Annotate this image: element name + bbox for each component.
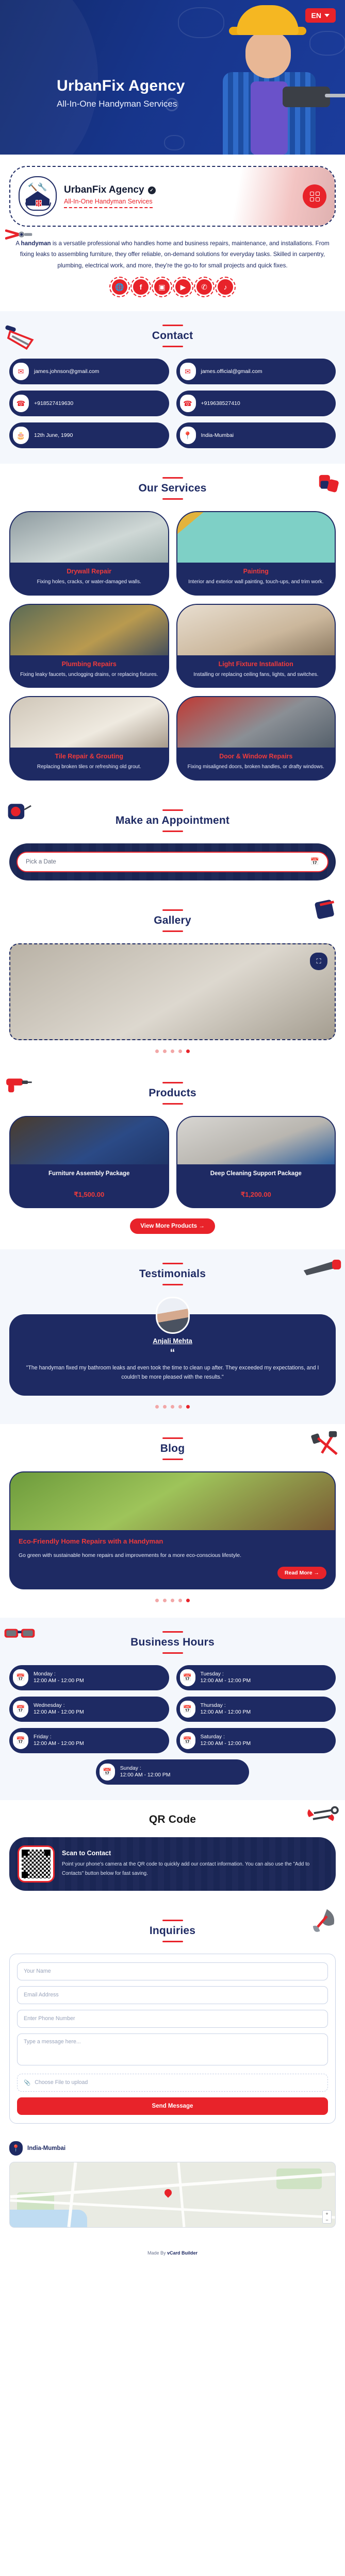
blog-dot[interactable] — [163, 1599, 167, 1602]
website-icon[interactable]: 🌐 — [112, 279, 127, 295]
service-title: Light Fixture Installation — [184, 660, 329, 668]
contact-section: Contact ✉ james.johnson@gmail.com ✉ jame… — [0, 311, 345, 464]
date-placeholder: Pick a Date — [26, 859, 56, 865]
hours-row: 📅 Wednesday : 12:00 AM - 12:00 PM — [9, 1697, 169, 1722]
service-image — [10, 512, 168, 563]
qr-title: Scan to Contact — [62, 1850, 327, 1857]
testimonial-card-wrap: Anjali Mehta “ "The handyman fixed my ba… — [9, 1297, 336, 1396]
phone-icon: ☎ — [13, 395, 29, 412]
map-location-label: India-Mumbai — [27, 2145, 65, 2151]
testimonials-section: Testimonials Anjali Mehta “ "The handyma… — [0, 1249, 345, 1424]
service-desc: Fixing holes, cracks, or water-damaged w… — [17, 578, 162, 586]
service-desc: Interior and exterior wall painting, tou… — [184, 578, 329, 586]
map-header: 📍 India-Mumbai — [9, 2141, 336, 2156]
business-hours-section: Business Hours 📅 Monday : 12:00 AM - 12:… — [0, 1618, 345, 1800]
service-title: Painting — [184, 568, 329, 575]
chevron-down-icon — [324, 14, 330, 17]
send-message-button[interactable]: Send Message — [17, 2097, 328, 2115]
product-card[interactable]: Deep Cleaning Support Package ₹1,200.00 — [176, 1116, 336, 1208]
hammer-wrench-icon: 🔨🔧 — [28, 182, 47, 192]
youtube-icon[interactable]: ▶ — [175, 279, 191, 295]
hours-row-sunday: 📅 Sunday : 12:00 AM - 12:00 PM — [96, 1759, 250, 1785]
calendar-clock-icon: 📅 — [180, 1669, 195, 1686]
footer-brand: vCard Builder — [167, 2250, 198, 2256]
service-card[interactable]: Drywall Repair Fixing holes, cracks, or … — [9, 511, 169, 596]
service-desc: Installing or replacing ceiling fans, li… — [184, 671, 329, 679]
product-image — [177, 1117, 335, 1164]
section-title: Blog — [9, 1443, 336, 1455]
service-card[interactable]: Plumbing Repairs Fixing leaky faucets, u… — [9, 604, 169, 688]
products-grid: Furniture Assembly Package ₹1,500.00 Dee… — [9, 1116, 336, 1208]
contact-value: India-Mumbai — [201, 432, 234, 439]
testimonial-dot[interactable] — [163, 1405, 167, 1409]
calendar-clock-icon: 📅 — [100, 1764, 115, 1781]
gallery-heading: Gallery — [9, 909, 336, 932]
map-section: 📍 India-Mumbai + − — [0, 2139, 345, 2243]
service-desc: Fixing misaligned doors, broken handles,… — [184, 763, 329, 771]
services-section: Our Services Drywall Repair Fixing holes… — [0, 464, 345, 796]
qr-description: Point your phone's camera at the QR code… — [62, 1860, 327, 1878]
blog-dot[interactable] — [171, 1599, 174, 1602]
intro-rest: is a versatile professional who handles … — [20, 240, 330, 269]
date-picker-input[interactable]: Pick a Date 📅 — [17, 852, 328, 872]
service-image — [177, 697, 335, 748]
testimonial-author: Anjali Mehta — [21, 1337, 324, 1345]
contact-value: 12th June, 1990 — [34, 432, 73, 439]
contact-grid: ✉ james.johnson@gmail.com ✉ james.offici… — [9, 359, 336, 448]
map-water — [10, 2210, 87, 2227]
service-card[interactable]: Door & Window Repairs Fixing misaligned … — [176, 696, 336, 781]
calendar-clock-icon: 📅 — [13, 1701, 28, 1718]
product-image — [10, 1117, 168, 1164]
hours-time: 12:00 AM - 12:00 PM — [201, 1709, 251, 1715]
section-title: QR Code — [9, 1814, 336, 1826]
contact-birthday[interactable]: 🎂 12th June, 1990 — [9, 422, 169, 448]
read-more-button[interactable]: Read More → — [277, 1567, 326, 1579]
view-more-products-button[interactable]: View More Products → — [130, 1218, 215, 1234]
blog-heading: Blog — [9, 1437, 336, 1460]
gallery-dot[interactable] — [171, 1049, 174, 1053]
hero-subtitle: All-In-One Handyman Services — [57, 99, 185, 109]
decorative-blob — [164, 135, 185, 150]
contact-value: +918527419630 — [34, 400, 73, 407]
email-field[interactable] — [17, 1986, 328, 2004]
section-title: Business Hours — [9, 1636, 336, 1649]
email-icon: ✉ — [180, 363, 196, 380]
blog-description: Go green with sustainable home repairs a… — [19, 1551, 326, 1561]
appointment-section: Make an Appointment Pick a Date 📅 — [0, 796, 345, 896]
qr-card: Scan to Contact Point your phone's camer… — [9, 1837, 336, 1891]
hours-time: 12:00 AM - 12:00 PM — [34, 1741, 84, 1747]
gallery-dot[interactable] — [155, 1049, 159, 1053]
hero-banner: EN UrbanFix Agency All-In-One Handyman S… — [0, 0, 345, 155]
business-hours-heading: Business Hours — [9, 1631, 336, 1654]
hours-row: 📅 Tuesday : 12:00 AM - 12:00 PM — [176, 1665, 336, 1690]
testimonials-heading: Testimonials — [9, 1263, 336, 1285]
blog-pagination — [9, 1599, 336, 1602]
contact-email-2[interactable]: ✉ james.official@gmail.com — [176, 359, 336, 384]
paperclip-icon: 📎 — [24, 2079, 30, 2086]
product-price: ₹1,200.00 — [183, 1191, 330, 1199]
profile-meta: UrbanFix Agency ✓ All-In-One Handyman Se… — [64, 184, 156, 208]
testimonial-dot[interactable] — [178, 1405, 182, 1409]
profile-section: 🔨🔧 UrbanFix Agency ✓ All-In-One Handyman… — [0, 155, 345, 230]
appointment-card: Pick a Date 📅 — [9, 843, 336, 880]
inquiries-section: Inquiries 📎 Choose File to upload Send M… — [0, 1906, 345, 2139]
calendar-clock-icon: 📅 — [180, 1701, 195, 1718]
product-card[interactable]: Furniture Assembly Package ₹1,500.00 — [9, 1116, 169, 1208]
blog-card[interactable]: Eco-Friendly Home Repairs with a Handyma… — [9, 1471, 336, 1589]
profile-tagline: All-In-One Handyman Services — [64, 198, 153, 208]
blog-section: Blog Eco-Friendly Home Repairs with a Ha… — [0, 1424, 345, 1618]
service-desc: Replacing broken tiles or refreshing old… — [17, 763, 162, 771]
service-title: Tile Repair & Grouting — [17, 753, 162, 760]
hero-text-block: UrbanFix Agency All-In-One Handyman Serv… — [57, 77, 185, 109]
service-card[interactable]: Painting Interior and exterior wall pain… — [176, 511, 336, 596]
section-title: Gallery — [9, 914, 336, 927]
products-heading: Products — [9, 1082, 336, 1105]
phone-field[interactable] — [17, 2010, 328, 2028]
company-logo: 🔨🔧 — [19, 176, 57, 216]
hours-row: 📅 Friday : 12:00 AM - 12:00 PM — [9, 1728, 169, 1753]
birthday-cake-icon: 🎂 — [13, 427, 29, 444]
hours-time: 12:00 AM - 12:00 PM — [34, 1709, 84, 1715]
hours-row: 📅 Thursday : 12:00 AM - 12:00 PM — [176, 1697, 336, 1722]
quote-icon: “ — [21, 1348, 324, 1358]
calendar-clock-icon: 📅 — [13, 1669, 28, 1686]
grid-menu-icon[interactable] — [303, 184, 326, 208]
calendar-icon[interactable]: 📅 — [310, 857, 319, 866]
service-image — [177, 512, 335, 563]
inquiry-form: 📎 Choose File to upload Send Message — [9, 1954, 336, 2124]
hours-row: 📅 Monday : 12:00 AM - 12:00 PM — [9, 1665, 169, 1690]
hours-day: Monday : — [34, 1671, 84, 1677]
map-embed[interactable]: + − — [9, 2162, 336, 2228]
logo-arc — [25, 202, 51, 211]
testimonial-pagination — [9, 1405, 336, 1409]
services-heading: Our Services — [9, 477, 336, 500]
email-icon: ✉ — [13, 363, 29, 380]
hours-time: 12:00 AM - 12:00 PM — [34, 1678, 84, 1684]
testimonial-dot-active[interactable] — [186, 1405, 190, 1409]
business-hours-grid: 📅 Monday : 12:00 AM - 12:00 PM 📅 Tuesday… — [9, 1665, 336, 1753]
hours-day: Tuesday : — [201, 1671, 251, 1677]
calendar-clock-icon: 📅 — [180, 1732, 195, 1749]
qr-heading: QR Code — [9, 1814, 336, 1826]
service-image — [10, 697, 168, 748]
blog-image — [10, 1472, 335, 1530]
testimonial-dot[interactable] — [155, 1405, 159, 1409]
appointment-heading: Make an Appointment — [9, 809, 336, 832]
section-title: Make an Appointment — [9, 815, 336, 827]
intro-section: A handyman is a versatile professional w… — [0, 230, 345, 311]
section-title: Our Services — [9, 482, 336, 495]
gallery-dot[interactable] — [178, 1049, 182, 1053]
language-label: EN — [311, 11, 321, 20]
hours-day: Thursday : — [201, 1703, 251, 1708]
service-title: Door & Window Repairs — [184, 753, 329, 760]
map-zoom-out[interactable]: − — [323, 2217, 331, 2223]
blog-dot[interactable] — [155, 1599, 159, 1602]
testimonial-dot[interactable] — [171, 1405, 174, 1409]
testimonial-text: "The handyman fixed my bathroom leaks an… — [21, 1363, 324, 1382]
whatsapp-icon[interactable]: ✆ — [196, 279, 212, 295]
hours-day: Sunday : — [120, 1766, 171, 1771]
language-selector[interactable]: EN — [305, 8, 336, 23]
map-zoom-controls[interactable]: + − — [322, 2210, 332, 2224]
hours-day: Friday : — [34, 1734, 84, 1740]
products-section: Products Furniture Assembly Package ₹1,5… — [0, 1069, 345, 1249]
contact-heading: Contact — [9, 325, 336, 347]
profile-name-row: UrbanFix Agency ✓ — [64, 184, 156, 196]
tiktok-icon[interactable]: ♪ — [218, 279, 233, 295]
name-field[interactable] — [17, 1962, 328, 1980]
contact-phone-1[interactable]: ☎ +918527419630 — [9, 391, 169, 416]
service-desc: Fixing leaky faucets, unclogging drains,… — [17, 671, 162, 679]
map-road — [177, 2162, 186, 2227]
gallery-pagination — [9, 1049, 336, 1053]
service-card[interactable]: Tile Repair & Grouting Replacing broken … — [9, 696, 169, 781]
location-pin-icon: 📍 — [9, 2141, 23, 2156]
profile-name: UrbanFix Agency — [64, 184, 144, 196]
contact-location[interactable]: 📍 India-Mumbai — [176, 422, 336, 448]
verified-check-icon: ✓ — [148, 187, 156, 194]
vcard-page: EN UrbanFix Agency All-In-One Handyman S… — [0, 0, 345, 2265]
instagram-icon[interactable]: ▣ — [154, 279, 170, 295]
blog-dot[interactable] — [178, 1599, 182, 1602]
section-title: Testimonials — [9, 1268, 336, 1280]
gallery-section: Gallery ⛶ — [0, 896, 345, 1069]
message-field[interactable] — [17, 2033, 328, 2065]
footer: Made By vCard Builder — [0, 2243, 345, 2265]
hours-day: Saturday : — [201, 1734, 251, 1740]
product-name: Furniture Assembly Package — [15, 1170, 163, 1187]
blog-dot-active[interactable] — [186, 1599, 190, 1602]
service-title: Drywall Repair — [17, 568, 162, 575]
inquiries-heading: Inquiries — [9, 1920, 336, 1942]
profile-card: 🔨🔧 UrbanFix Agency ✓ All-In-One Handyman… — [9, 166, 336, 227]
file-upload-field[interactable]: 📎 Choose File to upload — [17, 2074, 328, 2092]
product-name: Deep Cleaning Support Package — [183, 1170, 330, 1187]
hours-day: Wednesday : — [34, 1703, 84, 1708]
service-title: Plumbing Repairs — [17, 660, 162, 668]
gallery-dot[interactable] — [163, 1049, 167, 1053]
qr-section: QR Code Scan to Contact Point your phone… — [0, 1800, 345, 1906]
section-title: Contact — [9, 330, 336, 342]
service-card[interactable]: Light Fixture Installation Installing or… — [176, 604, 336, 688]
hero-worker-illustration — [208, 0, 327, 155]
contact-phone-2[interactable]: ☎ +919638527410 — [176, 391, 336, 416]
calendar-clock-icon: 📅 — [13, 1732, 28, 1749]
map-zoom-in[interactable]: + — [323, 2211, 331, 2217]
facebook-icon[interactable]: f — [133, 279, 149, 295]
contact-value: +919638527410 — [201, 400, 240, 407]
hours-time: 12:00 AM - 12:00 PM — [201, 1678, 251, 1684]
pliers-icon — [5, 228, 34, 243]
service-image — [10, 605, 168, 655]
intro-paragraph: A handyman is a versatile professional w… — [13, 238, 332, 271]
product-price: ₹1,500.00 — [15, 1191, 163, 1199]
gallery-dot-active[interactable] — [186, 1049, 190, 1053]
contact-email-1[interactable]: ✉ james.johnson@gmail.com — [9, 359, 169, 384]
file-upload-label: Choose File to upload — [35, 2079, 88, 2086]
section-title: Products — [9, 1087, 336, 1099]
hours-time: 12:00 AM - 12:00 PM — [120, 1772, 171, 1778]
phone-icon: ☎ — [180, 395, 196, 412]
hours-row: 📅 Saturday : 12:00 AM - 12:00 PM — [176, 1728, 336, 1753]
hours-time: 12:00 AM - 12:00 PM — [201, 1741, 251, 1747]
social-links: 🌐 f ▣ ▶ ✆ ♪ — [13, 271, 332, 308]
footer-text: Made By — [147, 2250, 167, 2256]
avatar — [156, 1297, 190, 1334]
contact-value: james.johnson@gmail.com — [34, 368, 99, 375]
location-pin-icon: 📍 — [180, 427, 196, 444]
blog-title: Eco-Friendly Home Repairs with a Handyma… — [19, 1537, 326, 1545]
contact-value: james.official@gmail.com — [201, 368, 262, 375]
hours-sunday-row: 📅 Sunday : 12:00 AM - 12:00 PM — [9, 1759, 336, 1785]
service-image — [177, 605, 335, 655]
map-marker[interactable] — [163, 2188, 173, 2198]
gallery-image[interactable]: ⛶ — [9, 943, 336, 1040]
hero-title: UrbanFix Agency — [57, 77, 185, 95]
services-grid: Drywall Repair Fixing holes, cracks, or … — [9, 511, 336, 781]
expand-fullscreen-icon[interactable]: ⛶ — [310, 953, 327, 970]
qr-code-image[interactable] — [18, 1845, 55, 1883]
section-title: Inquiries — [9, 1925, 336, 1937]
